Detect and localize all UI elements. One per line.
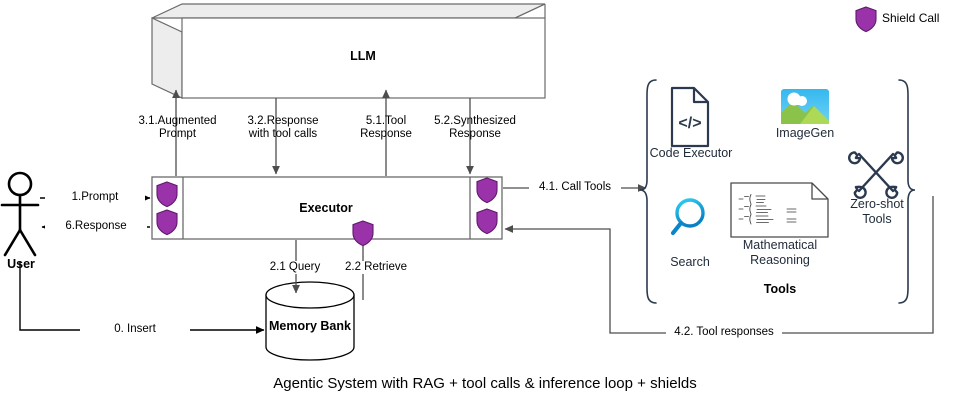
edge-label-prompt: 1.Prompt bbox=[45, 191, 145, 204]
diagram-caption: Agentic System with RAG + tool calls & i… bbox=[0, 375, 970, 392]
diagram-svg: </> bbox=[0, 0, 970, 411]
tool-label-search: Search bbox=[650, 255, 730, 270]
tools-group-label: Tools bbox=[738, 282, 822, 297]
shield-icon-memory-retrieve bbox=[353, 221, 373, 246]
edge-label-retrieve: 2.2 Retrieve bbox=[331, 261, 421, 274]
diagram-canvas: </> bbox=[0, 0, 970, 411]
code-document-icon: </> bbox=[672, 88, 708, 146]
edge-label-call-tools: 4.1. Call Tools bbox=[529, 181, 621, 194]
memory-bank-label: Memory Bank bbox=[250, 319, 370, 333]
tools-bracket-right bbox=[899, 80, 915, 303]
edge-label-augmented-prompt: 3.1.Augmented Prompt bbox=[130, 115, 225, 141]
tool-label-mathematical-reasoning: Mathematical Reasoning bbox=[728, 238, 832, 268]
edge-label-response-tool-calls: 3.2.Response with tool calls bbox=[232, 115, 334, 141]
tool-label-code-executor: Code Executor bbox=[645, 146, 737, 161]
magnifier-icon bbox=[673, 200, 703, 233]
edge-label-query: 2.1 Query bbox=[255, 261, 335, 274]
shield-icon-legend bbox=[856, 7, 876, 32]
executor-label: Executor bbox=[266, 201, 386, 215]
llm-label: LLM bbox=[303, 49, 423, 63]
math-document-icon bbox=[731, 183, 828, 237]
edge-label-response: 6.Response bbox=[45, 220, 147, 233]
user-label: User bbox=[0, 258, 42, 271]
edge-label-tool-responses: 4.2. Tool responses bbox=[666, 326, 782, 339]
tool-label-zero-shot-tools: Zero-shot Tools bbox=[839, 197, 915, 227]
legend-shield-label: Shield Call bbox=[882, 12, 968, 25]
crossed-wrenches-icon bbox=[849, 152, 903, 197]
edge-label-synthesized-response: 5.2.Synthesized Response bbox=[425, 115, 525, 141]
user-actor bbox=[2, 173, 38, 255]
edge-label-tool-response: 5.1.Tool Response bbox=[342, 115, 430, 141]
edge-insert bbox=[20, 262, 264, 330]
tool-label-imagegen: ImageGen bbox=[760, 126, 850, 141]
svg-text:</>: </> bbox=[678, 115, 701, 132]
edge-label-insert: 0. Insert bbox=[80, 323, 190, 336]
image-icon bbox=[781, 89, 829, 124]
